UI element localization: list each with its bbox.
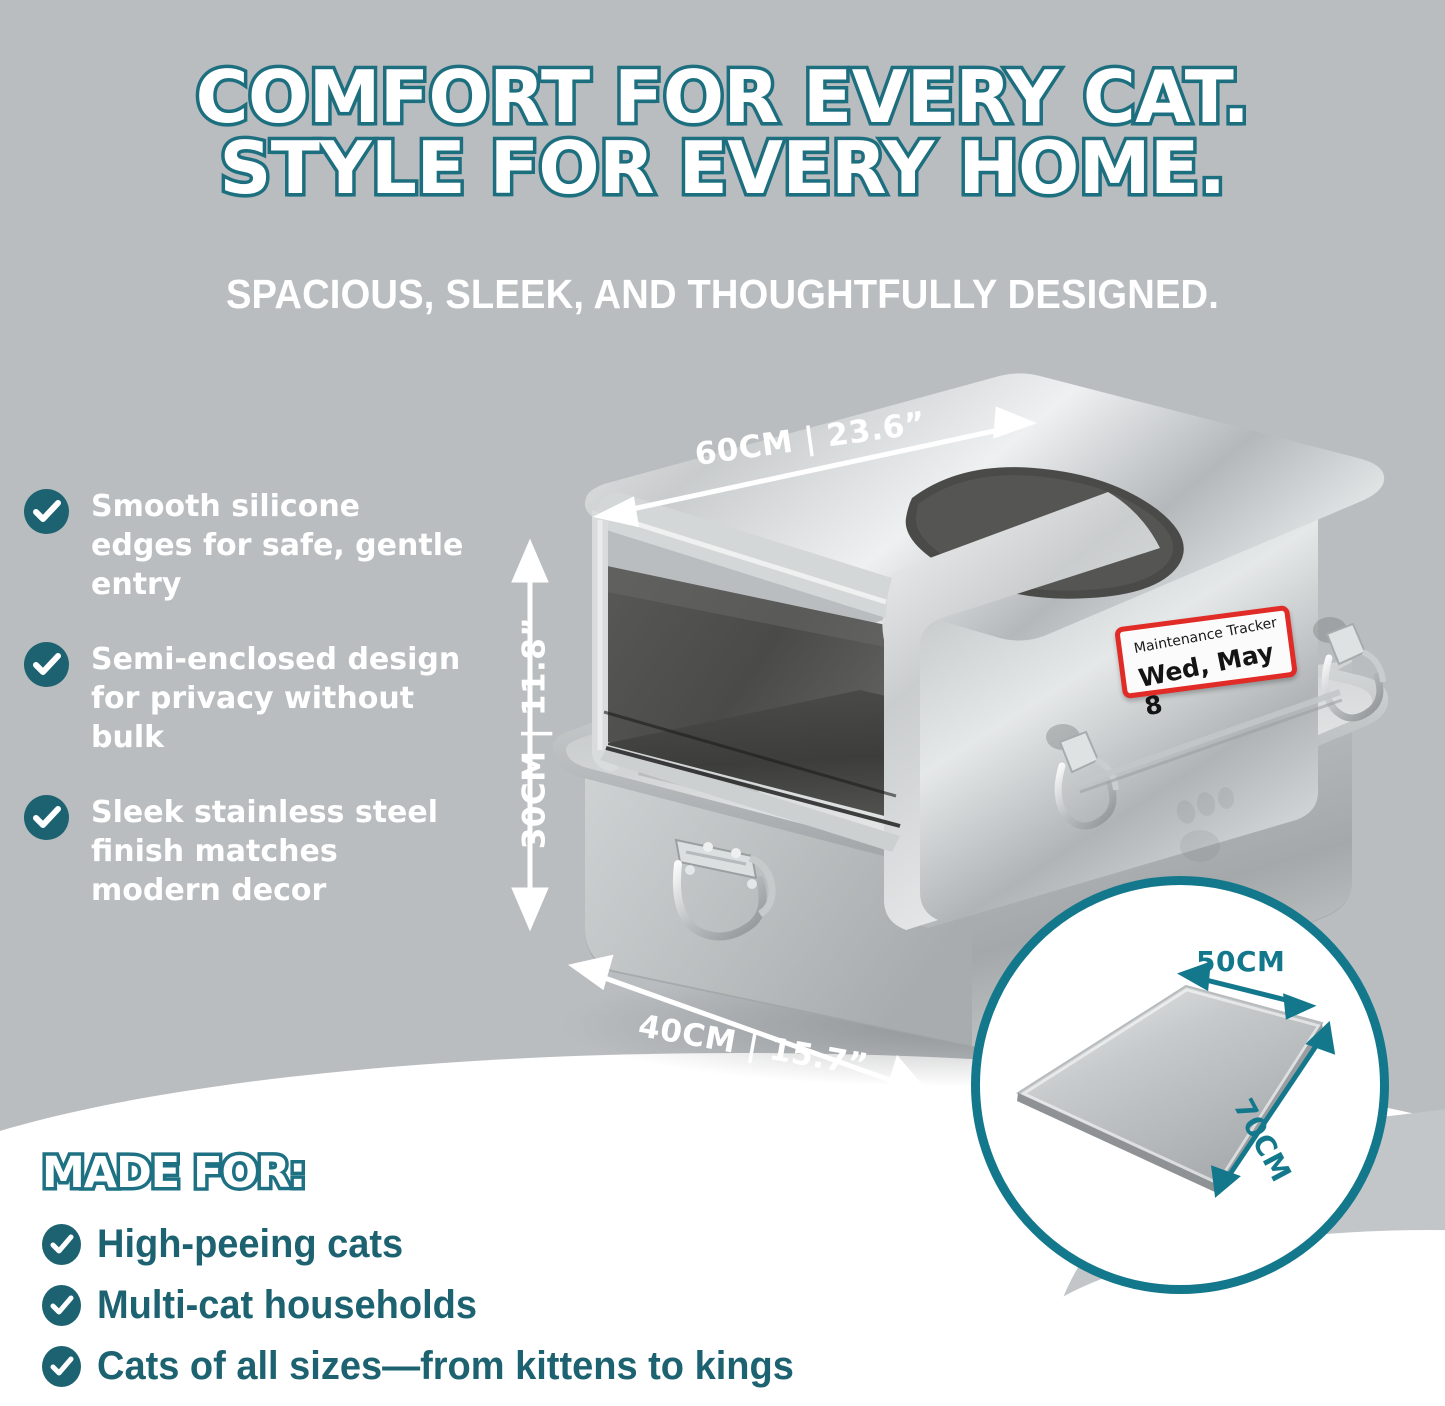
feature-label: Smooth silicone edges for safe, gentle e… [91,487,464,604]
check-icon [42,1285,81,1326]
made-for-title: MADE FOR: [42,1148,942,1198]
made-for-label: Multi-cat households [97,1283,477,1328]
page-subtitle: SPACIOUS, SLEEK, AND THOUGHTFULLY DESIGN… [51,271,1395,318]
made-for-label: Cats of all sizes—from kittens to kings [97,1344,794,1389]
made-for-item: High-peeing cats [42,1222,942,1267]
check-icon [24,642,69,687]
product-infographic: COMFORT FOR EVERY CAT. STYLE FOR EVERY H… [0,0,1445,1406]
mat-inset-circle: 50CM 70CM [971,876,1389,1294]
feature-item: Sleek stainless steel finish matches mod… [24,793,464,910]
feature-item: Semi-enclosed design for privacy without… [24,640,464,757]
made-for-item: Cats of all sizes—from kittens to kings [42,1344,942,1389]
made-for-item: Multi-cat households [42,1283,942,1328]
mat-illustration [980,885,1380,1285]
feature-item: Smooth silicone edges for safe, gentle e… [24,487,464,604]
check-icon [42,1346,81,1387]
mat-width-label: 50CM [1196,945,1285,978]
page-title: COMFORT FOR EVERY CAT. STYLE FOR EVERY H… [0,62,1445,203]
check-icon [24,489,69,534]
feature-label: Semi-enclosed design for privacy without… [91,640,464,757]
made-for-label: High-peeing cats [97,1222,403,1267]
check-icon [42,1224,81,1265]
feature-list: Smooth silicone edges for safe, gentle e… [24,487,464,946]
headline-line-2: STYLE FOR EVERY HOME. [0,133,1445,204]
dimension-label-height: 30CM | 11.8” [516,617,552,850]
check-icon [24,795,69,840]
made-for-section: MADE FOR: High-peeing cats Multi-cat hou… [42,1148,942,1405]
feature-label: Sleek stainless steel finish matches mod… [91,793,464,910]
